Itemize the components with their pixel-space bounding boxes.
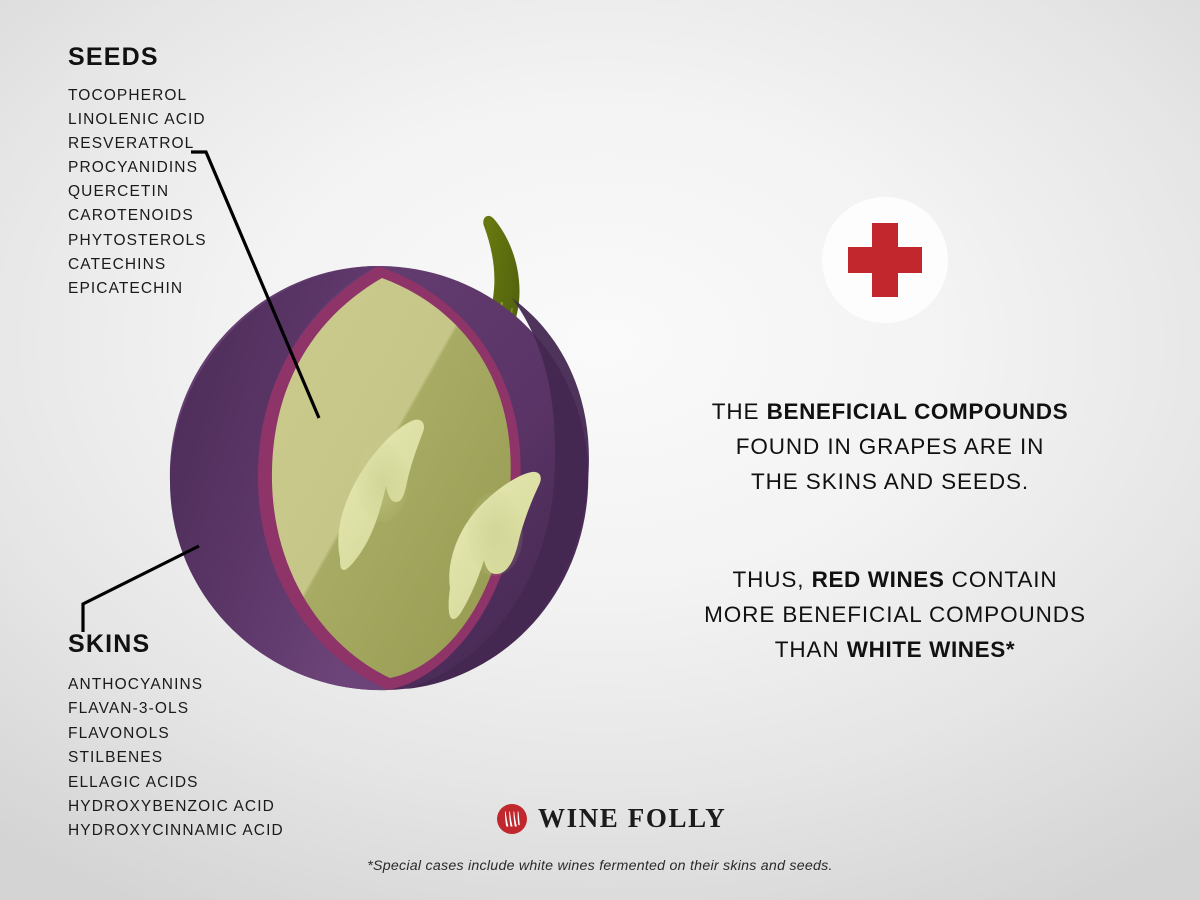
list-item: EPICATECHIN — [68, 277, 207, 301]
statement-text: THUS, — [732, 567, 811, 592]
list-item: ANTHOCYANINS — [68, 673, 284, 697]
statement-text: THE — [712, 399, 767, 424]
list-item: HYDROXYBENZOIC ACID — [68, 795, 284, 819]
statement-line: THAN WHITE WINES* — [660, 632, 1130, 667]
list-item: LINOLENIC ACID — [68, 108, 207, 132]
skins-compound-list: SKINS ANTHOCYANINS FLAVAN-3-OLS FLAVONOL… — [68, 632, 284, 844]
statement-text: CONTAIN — [945, 567, 1058, 592]
seeds-heading: SEEDS — [68, 45, 207, 70]
medical-cross-icon — [822, 197, 948, 323]
list-item: CAROTENOIDS — [68, 204, 207, 228]
wine-folly-logo: WINE FOLLY — [497, 803, 726, 834]
statement-line: THUS, RED WINES CONTAIN — [660, 562, 1130, 597]
skins-heading: SKINS — [68, 632, 284, 657]
statement-red-vs-white: THUS, RED WINES CONTAIN MORE BENEFICIAL … — [660, 562, 1130, 667]
list-item: FLAVAN-3-OLS — [68, 697, 284, 721]
list-item: QUERCETIN — [68, 180, 207, 204]
list-item: PROCYANIDINS — [68, 156, 207, 180]
statement-line: FOUND IN GRAPES ARE IN — [660, 429, 1120, 464]
seeds-compound-list: SEEDS TOCOPHEROL LINOLENIC ACID RESVERAT… — [68, 45, 207, 301]
list-item: CATECHINS — [68, 253, 207, 277]
statement-line: MORE BENEFICIAL COMPOUNDS — [660, 597, 1130, 632]
list-item: STILBENES — [68, 746, 284, 770]
statement-line: THE BENEFICIAL COMPOUNDS — [660, 394, 1120, 429]
cross-vertical-bar — [872, 223, 898, 297]
list-item: ELLAGIC ACIDS — [68, 771, 284, 795]
wine-folly-wordmark: WINE FOLLY — [538, 803, 726, 834]
statement-beneficial-compounds: THE BENEFICIAL COMPOUNDS FOUND IN GRAPES… — [660, 394, 1120, 499]
statement-emphasis: RED WINES — [812, 567, 945, 592]
infographic-canvas: SEEDS TOCOPHEROL LINOLENIC ACID RESVERAT… — [0, 0, 1200, 900]
statement-line: THE SKINS AND SEEDS. — [660, 464, 1120, 499]
wine-folly-logo-mark — [497, 804, 527, 834]
list-item: PHYTOSTEROLS — [68, 229, 207, 253]
footnote-text: *Special cases include white wines ferme… — [0, 858, 1200, 874]
list-item: HYDROXYCINNAMIC ACID — [68, 819, 284, 843]
statement-text: THAN — [775, 637, 847, 662]
list-item: RESVERATROL — [68, 132, 207, 156]
list-item: TOCOPHEROL — [68, 84, 207, 108]
statement-emphasis: BENEFICIAL COMPOUNDS — [767, 399, 1069, 424]
statement-emphasis: WHITE WINES* — [847, 637, 1015, 662]
list-item: FLAVONOLS — [68, 722, 284, 746]
